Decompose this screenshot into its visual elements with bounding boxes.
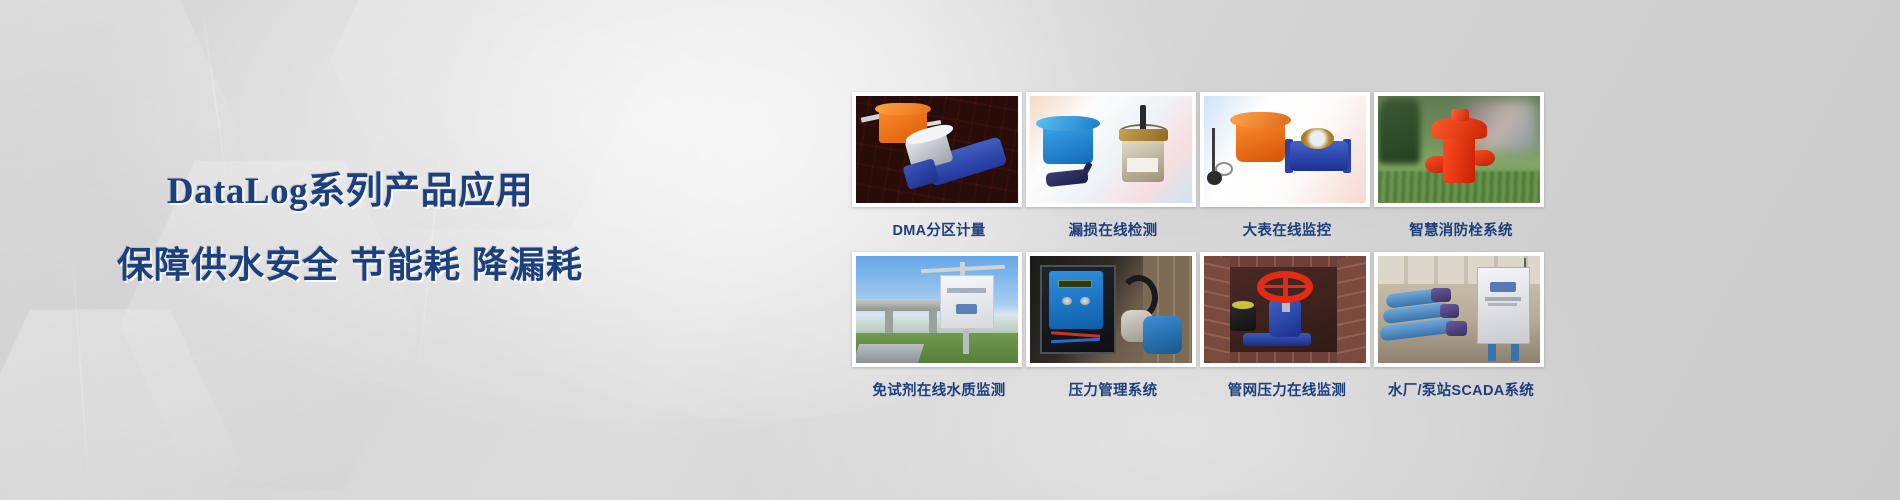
pump-station-scada-photo [1378,256,1540,363]
water-quality-station-photo [856,256,1018,363]
product-caption: 水厂/泵站SCADA系统 [1374,379,1548,400]
product-thumbnail-frame [1374,252,1544,367]
product-caption: 免试剂在线水质监测 [852,379,1026,400]
pressure-cabinet-photo [1030,256,1192,363]
product-caption: DMA分区计量 [852,219,1026,240]
product-thumbnail-frame [1200,252,1370,367]
product-caption: 漏损在线检测 [1026,219,1200,240]
leak-logger-photo [1030,96,1192,203]
pipe-pressure-valve-photo [1204,256,1366,363]
product-caption: 大表在线监控 [1200,219,1374,240]
banner-headline: DataLog系列产品应用 保障供水安全 节能耗 降漏耗 [0,160,700,288]
product-card-leak-detection[interactable]: 漏损在线检测 [1026,92,1200,252]
fire-hydrant-photo [1378,96,1540,203]
product-card-dma[interactable]: DMA分区计量 [852,92,1026,252]
product-thumbnail-frame [852,92,1022,207]
product-card-pipe-pressure[interactable]: 管网压力在线监测 [1200,252,1374,412]
product-thumbnail-frame [1374,92,1544,207]
product-caption: 管网压力在线监测 [1200,379,1374,400]
dma-chamber-photo [856,96,1018,203]
product-card-smart-hydrant[interactable]: 智慧消防栓系统 [1374,92,1548,252]
product-card-large-meter[interactable]: 大表在线监控 [1200,92,1374,252]
product-thumbnail-frame [1200,92,1370,207]
product-thumbnail-frame [1026,252,1196,367]
headline-line-2: 保障供水安全 节能耗 降漏耗 [0,236,700,288]
product-application-banner: DataLog系列产品应用 保障供水安全 节能耗 降漏耗 DMA分区计量 [0,0,1900,500]
product-thumbnail-frame [1026,92,1196,207]
product-caption: 压力管理系统 [1026,379,1200,400]
product-card-scada[interactable]: 水厂/泵站SCADA系统 [1374,252,1548,412]
product-card-pressure-management[interactable]: 压力管理系统 [1026,252,1200,412]
product-card-water-quality[interactable]: 免试剂在线水质监测 [852,252,1026,412]
headline-line-1: DataLog系列产品应用 [0,160,700,214]
product-thumbnail-frame [852,252,1022,367]
large-meter-photo [1204,96,1366,203]
product-application-grid: DMA分区计量 漏损在线检测 [852,92,1548,412]
product-caption: 智慧消防栓系统 [1374,219,1548,240]
